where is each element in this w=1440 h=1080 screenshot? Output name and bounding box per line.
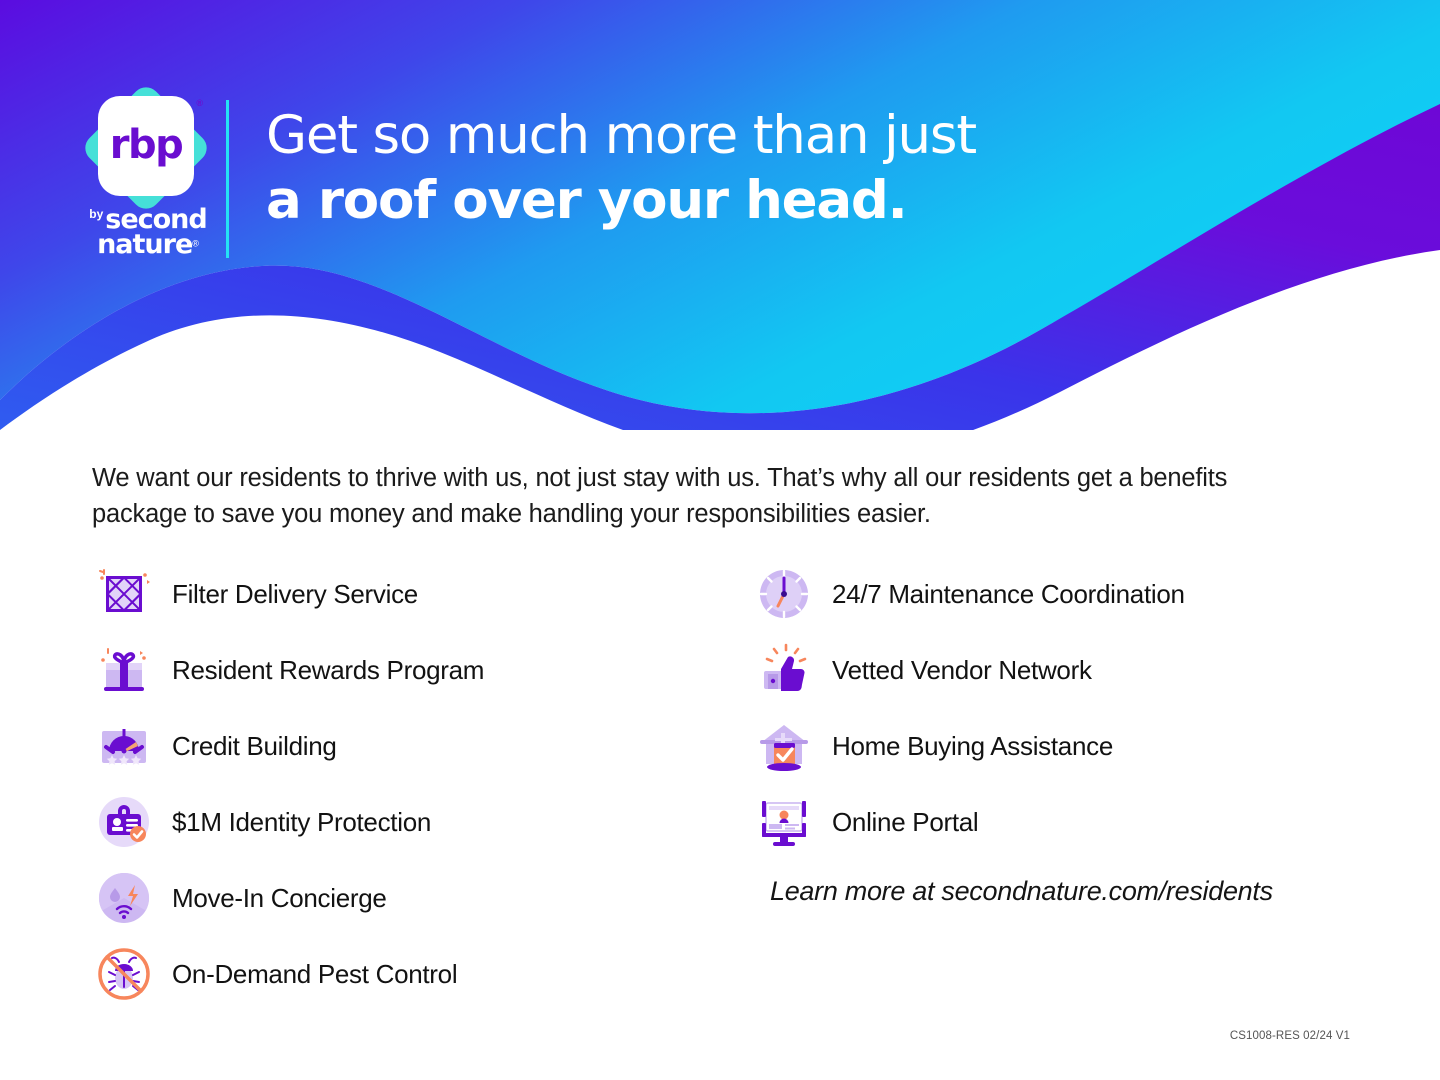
logo-byline-nature: nature <box>97 233 192 258</box>
rbp-logo-mark: rbp ® <box>90 92 202 204</box>
rbp-logo: rbp ® bysecond nature® <box>84 92 212 262</box>
utilities-circle-icon <box>92 867 156 929</box>
list-item: 24/7 Maintenance Coordination <box>752 556 1412 632</box>
page-title: Get so much more than just a roof over y… <box>266 104 976 233</box>
list-item-label: Credit Building <box>172 731 337 762</box>
document-code: CS1008-RES 02/24 V1 <box>1230 1030 1350 1042</box>
logo-byline-prefix: by <box>89 209 103 220</box>
gift-icon <box>92 639 156 701</box>
headline-line-2: a roof over your head. <box>266 169 976 234</box>
headline-line-1: Get so much more than just <box>266 104 976 169</box>
monitor-portal-icon <box>752 791 816 853</box>
list-item-label: Move-In Concierge <box>172 883 387 914</box>
list-item-label: On-Demand Pest Control <box>172 959 457 990</box>
header-divider <box>226 100 229 258</box>
intro-paragraph: We want our residents to thrive with us,… <box>92 460 1307 532</box>
logo-wordmark: rbp <box>110 125 183 168</box>
list-item: On-Demand Pest Control <box>92 936 732 1012</box>
list-item-label: Filter Delivery Service <box>172 579 418 610</box>
list-item-label: $1M Identity Protection <box>172 807 431 838</box>
benefits-column-left: Filter Delivery Service Resident Rewards <box>92 556 732 1012</box>
list-item: Vetted Vendor Network <box>752 632 1412 708</box>
credit-gauge-icon <box>92 715 156 777</box>
list-item: Filter Delivery Service <box>92 556 732 632</box>
air-filter-icon <box>92 563 156 625</box>
list-item: Online Portal <box>752 784 1412 860</box>
logo-registered-mark: ® <box>196 98 203 108</box>
thumbs-up-icon <box>752 639 816 701</box>
house-checklist-icon <box>752 715 816 777</box>
id-badge-shield-icon <box>92 791 156 853</box>
learn-more-cta[interactable]: Learn more at secondnature.com/residents <box>770 876 1273 907</box>
list-item: $1M Identity Protection <box>92 784 732 860</box>
benefits-column-right: 24/7 Maintenance Coordination <box>752 556 1412 860</box>
logo-byline: bysecond nature® <box>84 208 212 258</box>
list-item-label: Online Portal <box>832 807 978 838</box>
list-item-label: Vetted Vendor Network <box>832 655 1092 686</box>
list-item-label: Resident Rewards Program <box>172 655 484 686</box>
no-pest-icon <box>92 943 156 1005</box>
logo-white-badge: rbp ® <box>98 96 194 196</box>
logo-byline-registered-mark: ® <box>192 239 199 249</box>
list-item-label: 24/7 Maintenance Coordination <box>832 579 1185 610</box>
list-item: Home Buying Assistance <box>752 708 1412 784</box>
list-item: Resident Rewards Program <box>92 632 732 708</box>
clock-icon <box>752 563 816 625</box>
list-item: Credit Building <box>92 708 732 784</box>
list-item: Move-In Concierge <box>92 860 732 936</box>
list-item-label: Home Buying Assistance <box>832 731 1113 762</box>
